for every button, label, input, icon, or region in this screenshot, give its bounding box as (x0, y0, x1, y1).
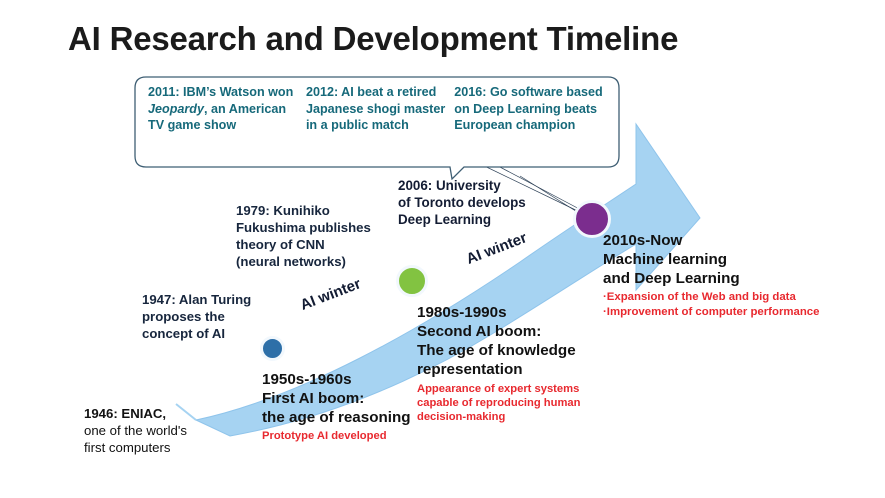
era-second-boom-note: Appearance of expert systems capable of … (417, 382, 580, 424)
callout-2011: 2011: IBM’s Watson won Jeopardy, an Amer… (134, 84, 300, 134)
milestone-dot-1980s (396, 265, 428, 297)
callout-2011-italic: Jeopardy (148, 102, 204, 116)
era-first-boom: 1950s-1960s First AI boom: the age of re… (262, 370, 411, 443)
era-now: 2010s-Now Machine learning and Deep Lear… (603, 231, 819, 319)
era-now-heading: 2010s-Now Machine learning and Deep Lear… (603, 231, 819, 288)
milestone-dot-1947 (260, 336, 285, 361)
callout-2016: 2016: Go software based on Deep Learning… (450, 84, 610, 134)
callout-2012: 2012: AI beat a retired Japanese shogi m… (300, 84, 450, 134)
callout-2011-text-before: 2011: IBM’s Watson won (148, 85, 293, 99)
era-first-boom-heading: 1950s-1960s First AI boom: the age of re… (262, 370, 411, 427)
era-second-boom-heading: 1980s-1990s Second AI boom: The age of k… (417, 303, 580, 380)
timeline-infographic: AI Research and Development Timeline 201… (0, 0, 885, 498)
event-label-1979: 1979: Kunihiko Fukushima publishes theor… (236, 203, 371, 271)
callout-bubble: 2011: IBM’s Watson won Jeopardy, an Amer… (134, 76, 610, 162)
event-label-1946: 1946: ENIAC, one of the world's first co… (84, 406, 187, 457)
era-second-boom: 1980s-1990s Second AI boom: The age of k… (417, 303, 580, 424)
era-first-boom-note: Prototype AI developed (262, 429, 411, 443)
event-label-1946-rest: one of the world's first computers (84, 423, 187, 455)
event-label-1947: 1947: Alan Turing proposes the concept o… (142, 292, 251, 343)
era-now-note: ·Expansion of the Web and big data ·Impr… (603, 290, 819, 319)
page-title: AI Research and Development Timeline (68, 20, 678, 58)
event-label-1946-year: 1946: ENIAC, (84, 406, 166, 421)
event-label-2006: 2006: University of Toronto develops Dee… (398, 177, 526, 228)
